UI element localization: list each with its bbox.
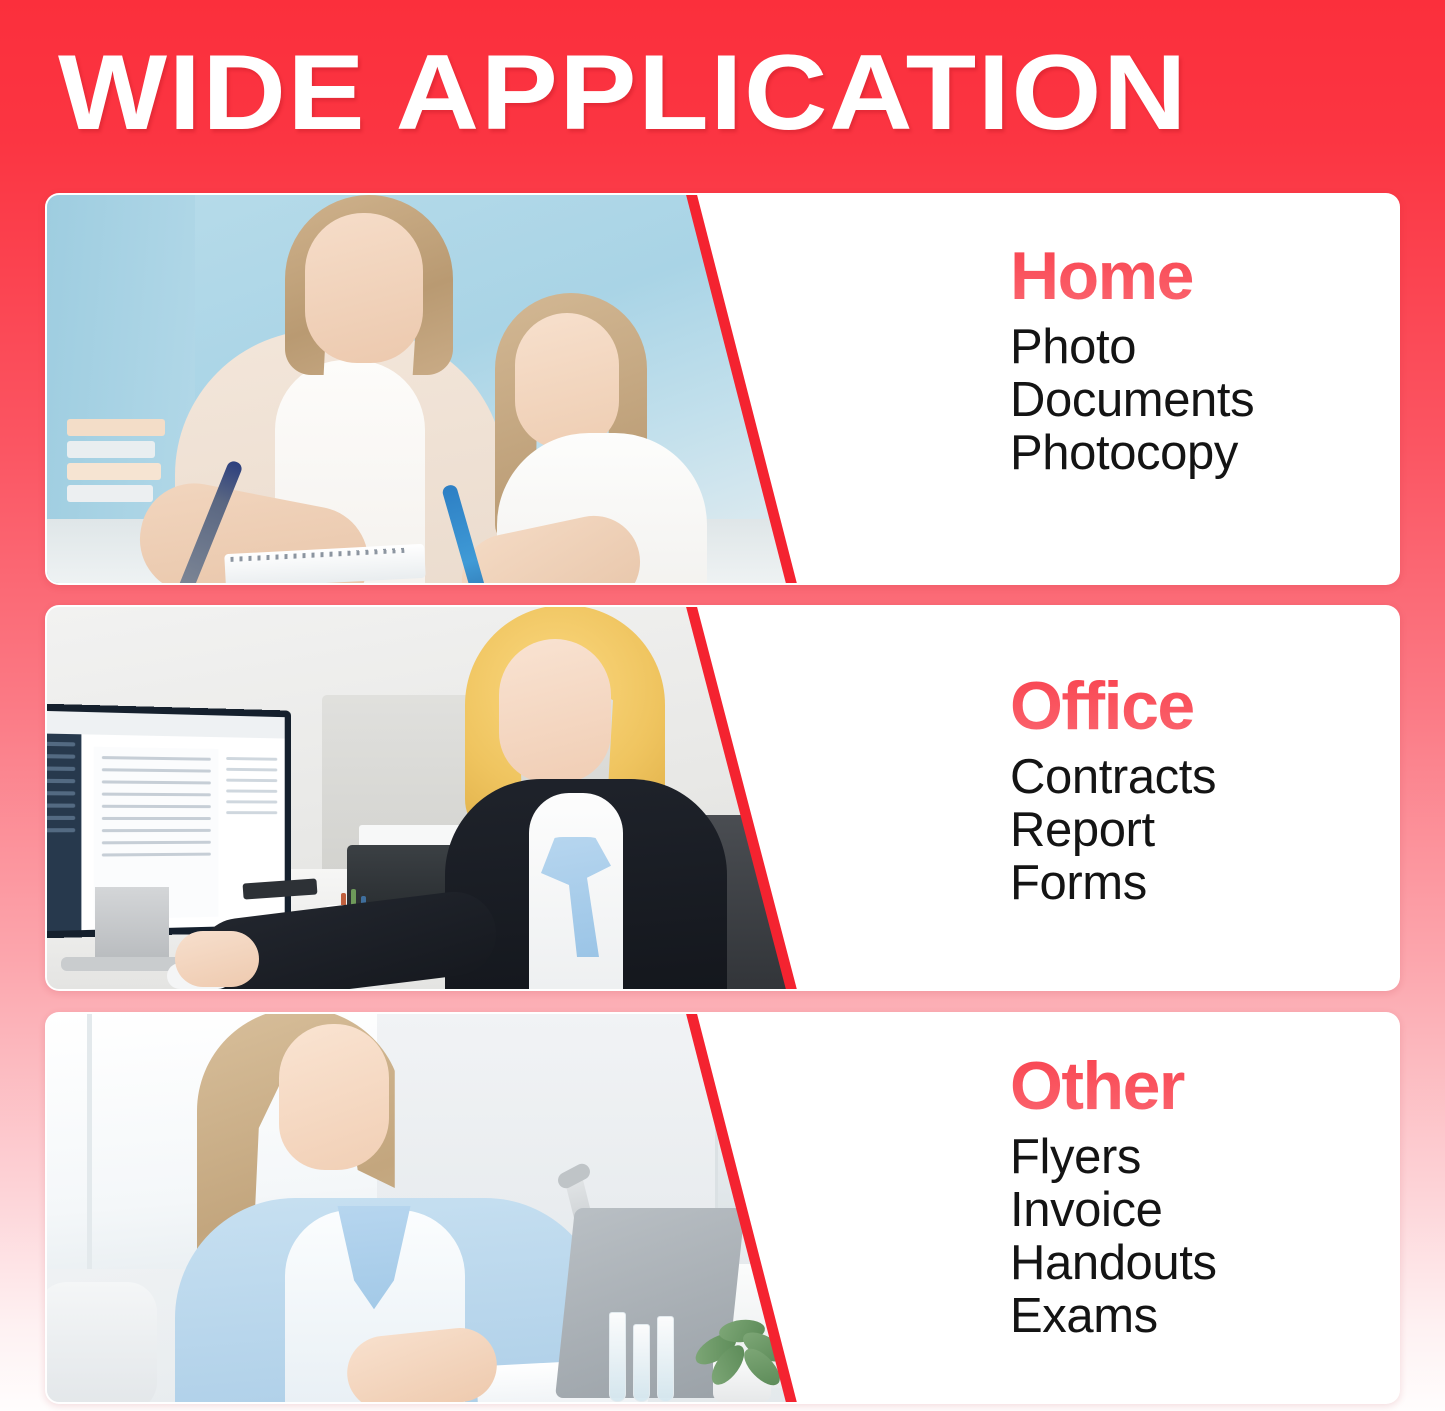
card-title-other: Other	[1010, 1049, 1398, 1123]
list-item: Photo	[1010, 321, 1398, 374]
child-head	[515, 313, 619, 449]
card-text-home: Home Photo Documents Photocopy	[807, 195, 1398, 583]
list-item: Forms	[1010, 857, 1398, 910]
scene-office-desk	[47, 607, 807, 989]
potted-plant-icon	[689, 1282, 793, 1402]
scene-home-tutoring	[47, 195, 807, 583]
card-title-office: Office	[1010, 669, 1398, 743]
wide-application-infographic: WIDE APPLICATION	[0, 0, 1445, 1411]
card-list-home: Photo Documents Photocopy	[1010, 321, 1398, 480]
adult-head	[305, 213, 423, 363]
woman-hand	[175, 931, 259, 987]
list-item: Invoice	[1010, 1184, 1398, 1237]
card-list-office: Contracts Report Forms	[1010, 751, 1398, 910]
screen-sidebar	[47, 733, 81, 931]
list-item: Flyers	[1010, 1131, 1398, 1184]
card-photo-home	[47, 195, 807, 583]
card-title-home: Home	[1010, 239, 1398, 313]
photo-image-office	[47, 607, 807, 989]
lab-shelf	[715, 1072, 781, 1212]
desktop-monitor-icon	[47, 703, 291, 939]
photo-image-home	[47, 195, 807, 583]
card-photo-office	[47, 607, 807, 989]
chair-back	[47, 1282, 157, 1402]
card-list-other: Flyers Invoice Handouts Exams	[1010, 1131, 1398, 1343]
card-text-office: Office Contracts Report Forms	[807, 607, 1398, 989]
monitor-stand	[95, 887, 169, 959]
application-card-other: Other Flyers Invoice Handouts Exams	[45, 1012, 1400, 1404]
application-card-home: Home Photo Documents Photocopy	[45, 193, 1400, 585]
card-text-other: Other Flyers Invoice Handouts Exams	[807, 1014, 1398, 1402]
list-item: Documents	[1010, 374, 1398, 427]
list-item: Photocopy	[1010, 427, 1398, 480]
woman-head	[499, 639, 611, 783]
page-title: WIDE APPLICATION	[58, 36, 1354, 152]
list-item: Report	[1010, 804, 1398, 857]
scene-laboratory	[47, 1014, 807, 1402]
woman-head	[279, 1024, 389, 1170]
photo-image-other	[47, 1014, 807, 1402]
list-item: Exams	[1010, 1290, 1398, 1343]
card-photo-other	[47, 1014, 807, 1402]
application-card-office: Office Contracts Report Forms	[45, 605, 1400, 991]
list-item: Handouts	[1010, 1237, 1398, 1290]
list-item: Contracts	[1010, 751, 1398, 804]
test-tubes-icon	[609, 1306, 685, 1402]
screen-toolbar	[47, 711, 285, 739]
